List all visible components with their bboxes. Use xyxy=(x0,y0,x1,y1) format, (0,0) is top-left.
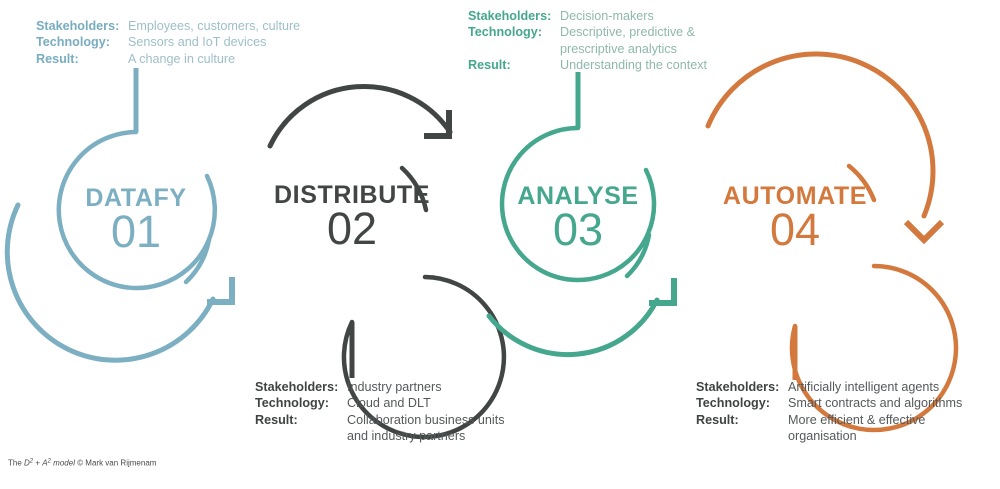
stage-number-automate: 04 xyxy=(707,207,883,252)
circle-label-datafy: DATAFY 01 xyxy=(56,185,216,254)
value-result-line2: organisation xyxy=(788,428,857,444)
label-stakeholders: Stakeholders: xyxy=(468,8,560,24)
info-block-automate: Stakeholders: Artificially intelligent a… xyxy=(696,379,962,445)
caption-model: model xyxy=(51,459,75,468)
circle-label-analyse: ANALYSE 03 xyxy=(498,183,658,252)
info-row-result-cont: and industry partners xyxy=(255,428,505,444)
label-stakeholders: Stakeholders: xyxy=(696,379,788,395)
label-result: Result: xyxy=(36,51,128,67)
label-stakeholders: Stakeholders: xyxy=(36,18,128,34)
info-row-stakeholders: Stakeholders: Artificially intelligent a… xyxy=(696,379,962,395)
value-stakeholders: Employees, customers, culture xyxy=(128,18,300,34)
stage-number-analyse: 03 xyxy=(498,207,658,252)
info-row-stakeholders: Stakeholders: Employees, customers, cult… xyxy=(36,18,300,34)
info-block-analyse: Stakeholders: Decision-makers Technology… xyxy=(468,8,707,74)
value-result: Understanding the context xyxy=(560,57,707,73)
label-technology: Technology: xyxy=(696,395,788,411)
info-row-technology-cont: prescriptive analytics xyxy=(468,41,707,57)
value-technology: Cloud and DLT xyxy=(347,395,431,411)
info-row-technology: Technology: Sensors and IoT devices xyxy=(36,34,300,50)
circle-label-distribute: DISTRIBUTE 02 xyxy=(262,182,442,251)
info-block-datafy: Stakeholders: Employees, customers, cult… xyxy=(36,18,300,67)
value-stakeholders: Decision-makers xyxy=(560,8,654,24)
label-result: Result: xyxy=(255,412,347,428)
label-technology: Technology: xyxy=(468,24,560,40)
info-row-result: Result: More efficient & effective xyxy=(696,412,962,428)
info-row-technology: Technology: Descriptive, predictive & xyxy=(468,24,707,40)
arrowhead-analyse xyxy=(649,278,674,303)
info-row-result: Result: Collaboration business units xyxy=(255,412,505,428)
label-stakeholders: Stakeholders: xyxy=(255,379,347,395)
info-row-technology: Technology: Cloud and DLT xyxy=(255,395,505,411)
outer-arrow-arc-distribute xyxy=(270,86,450,146)
info-row-stakeholders: Stakeholders: Industry partners xyxy=(255,379,505,395)
value-technology: Sensors and IoT devices xyxy=(128,34,266,50)
label-technology: Technology: xyxy=(36,34,128,50)
info-row-result: Result: Understanding the context xyxy=(468,57,707,73)
label-technology: Technology: xyxy=(255,395,347,411)
label-spacer xyxy=(696,428,788,444)
info-row-result-cont: organisation xyxy=(696,428,962,444)
value-result: More efficient & effective xyxy=(788,412,925,428)
info-row-technology: Technology: Smart contracts and algorith… xyxy=(696,395,962,411)
caption-pre: The xyxy=(8,459,24,468)
stage-number-distribute: 02 xyxy=(262,206,442,251)
value-technology: Descriptive, predictive & xyxy=(560,24,695,40)
caption-post: © Mark van Rijmenam xyxy=(75,459,156,468)
info-block-distribute: Stakeholders: Industry partners Technolo… xyxy=(255,379,505,445)
label-spacer xyxy=(255,428,347,444)
circle-label-automate: AUTOMATE 04 xyxy=(707,183,883,252)
value-result: Collaboration business units xyxy=(347,412,505,428)
copyright-caption: The D2 + A2 model © Mark van Rijmenam xyxy=(8,458,156,468)
diagram-canvas: DATAFY 01 DISTRIBUTE 02 ANALYSE 03 AUTOM… xyxy=(0,0,1000,489)
label-spacer xyxy=(468,41,560,57)
label-result: Result: xyxy=(468,57,560,73)
value-result: A change in culture xyxy=(128,51,235,67)
info-row-result: Result: A change in culture xyxy=(36,51,300,67)
value-stakeholders: Artificially intelligent agents xyxy=(788,379,939,395)
value-stakeholders: Industry partners xyxy=(347,379,442,395)
label-result: Result: xyxy=(696,412,788,428)
outer-arrow-arc-analyse xyxy=(489,300,657,355)
arrowhead-automate xyxy=(906,222,942,240)
info-row-stakeholders: Stakeholders: Decision-makers xyxy=(468,8,707,24)
value-technology-line2: prescriptive analytics xyxy=(560,41,677,57)
value-result-line2: and industry partners xyxy=(347,428,465,444)
value-technology: Smart contracts and algorithms xyxy=(788,395,962,411)
caption-plus: + xyxy=(33,459,42,468)
stage-number-datafy: 01 xyxy=(56,209,216,254)
